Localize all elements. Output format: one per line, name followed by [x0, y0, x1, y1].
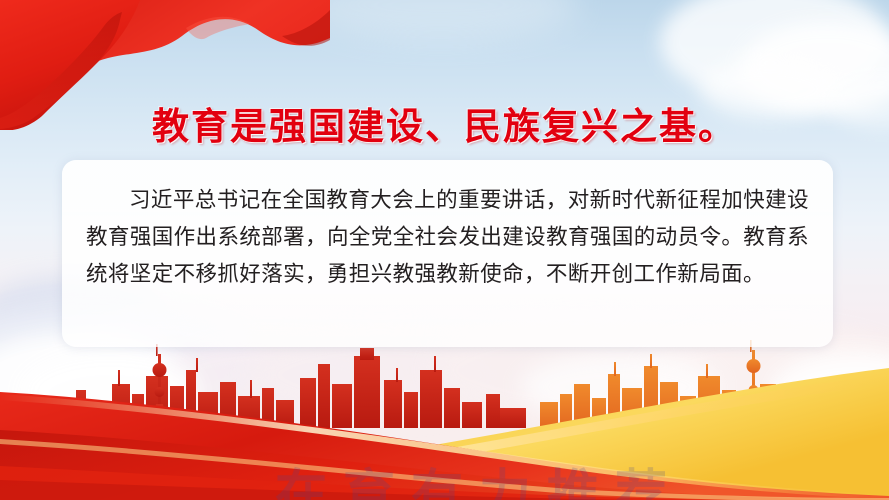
cloud-icon: [300, 0, 580, 40]
poster-title-wrapper: 教育是强国建设、民族复兴之基。: [0, 96, 889, 150]
content-panel: 习近平总书记在全国教育大会上的重要讲话，对新时代新征程加快建设教育强国作出系统部…: [62, 160, 833, 347]
skyline-ribbon-graphic: [0, 340, 889, 500]
page-title: 教育是强国建设、民族复兴之基。: [152, 96, 737, 150]
poster-canvas: 教育是强国建设、民族复兴之基。: [0, 0, 889, 500]
body-paragraph: 习近平总书记在全国教育大会上的重要讲话，对新时代新征程加快建设教育强国作出系统部…: [86, 182, 809, 293]
